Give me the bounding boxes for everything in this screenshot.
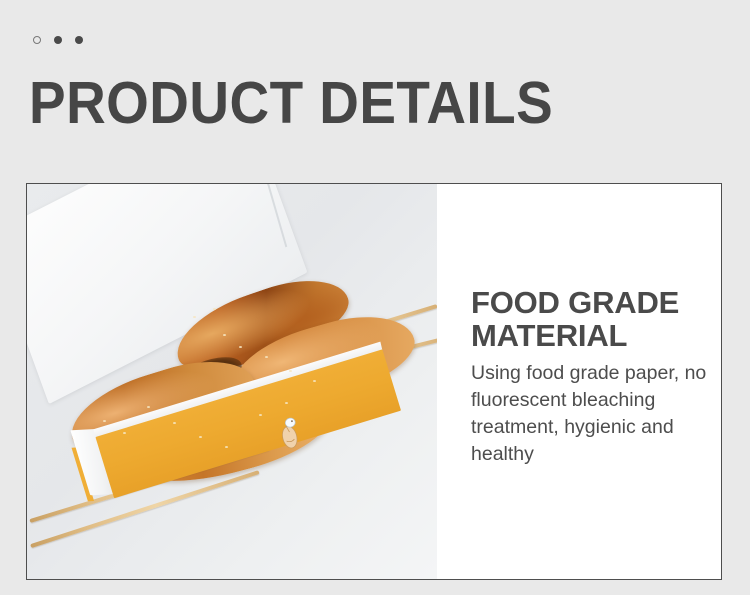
sesame-seed: [147, 406, 150, 408]
sesame-seed: [123, 432, 126, 434]
feature-body: Using food grade paper, no fluorescent b…: [471, 360, 719, 468]
sesame-seed: [265, 356, 268, 358]
sesame-seed: [259, 414, 262, 416]
sesame-seed: [213, 308, 216, 310]
sesame-seed: [173, 422, 176, 424]
sesame-seed: [285, 402, 288, 404]
feature-heading: FOOD GRADE MATERIAL: [471, 286, 721, 352]
dot-solid-2-icon: [75, 36, 83, 44]
chicken-logo-icon: [275, 414, 305, 452]
sesame-seed: [239, 346, 242, 348]
page-title: PRODUCT DETAILS: [29, 72, 553, 134]
sesame-seed: [225, 446, 228, 448]
sesame-seed: [199, 436, 202, 438]
sesame-seed: [103, 420, 106, 422]
sesame-seed: [193, 316, 196, 318]
product-detail-card: FOOD GRADE MATERIAL Using food grade pap…: [26, 183, 722, 580]
sesame-seed: [223, 334, 226, 336]
decor-dots: [33, 36, 83, 44]
sesame-seed: [313, 380, 316, 382]
dot-hollow-icon: [33, 36, 41, 44]
product-photo: [27, 184, 437, 579]
dot-solid-1-icon: [54, 36, 62, 44]
product-photo-stage: [27, 184, 437, 579]
feature-text-pane: FOOD GRADE MATERIAL Using food grade pap…: [437, 184, 721, 579]
sesame-seed: [289, 370, 292, 372]
